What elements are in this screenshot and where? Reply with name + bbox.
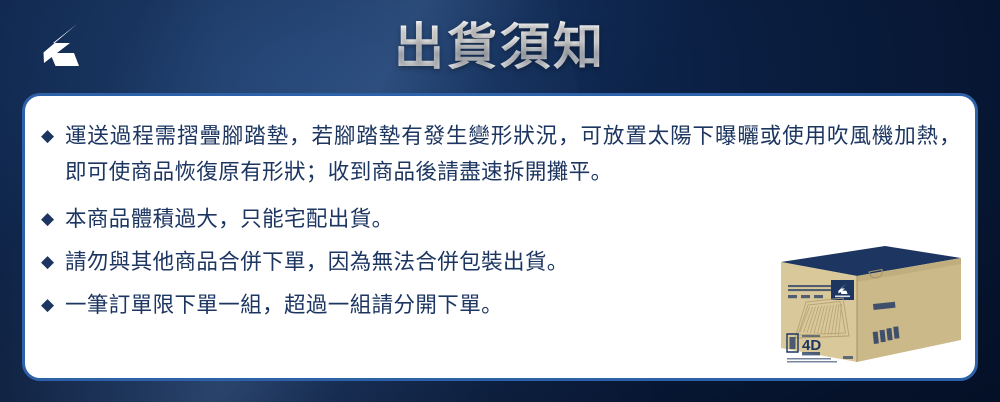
svg-text:4D: 4D — [802, 337, 821, 354]
bullet-diamond-icon: ◆ — [41, 287, 65, 323]
shipping-notice-banner: 出貨須知 ◆ 運送過程需摺疊腳踏墊，若腳踏墊有發生變形狀況，可放置太陽下曝曬或使… — [0, 0, 1000, 402]
bullet-diamond-icon: ◆ — [41, 244, 65, 280]
list-item: ◆ 本商品體積過大，只能宅配出貨。 — [41, 201, 965, 237]
page-title: 出貨須知 — [0, 17, 1000, 77]
notice-text: 本商品體積過大，只能宅配出貨。 — [65, 201, 965, 237]
banner-header: 出貨須知 — [0, 0, 1000, 93]
product-box-image: 4D — [773, 240, 969, 368]
notice-card: ◆ 運送過程需摺疊腳踏墊，若腳踏墊有發生變形狀況，可放置太陽下曝曬或使用吹風機加… — [22, 93, 978, 381]
bullet-diamond-icon: ◆ — [41, 118, 65, 154]
list-item: ◆ 運送過程需摺疊腳踏墊，若腳踏墊有發生變形狀況，可放置太陽下曝曬或使用吹風機加… — [41, 118, 965, 190]
notice-text: 運送過程需摺疊腳踏墊，若腳踏墊有發生變形狀況，可放置太陽下曝曬或使用吹風機加熱，… — [65, 118, 965, 190]
bullet-diamond-icon: ◆ — [41, 201, 65, 237]
